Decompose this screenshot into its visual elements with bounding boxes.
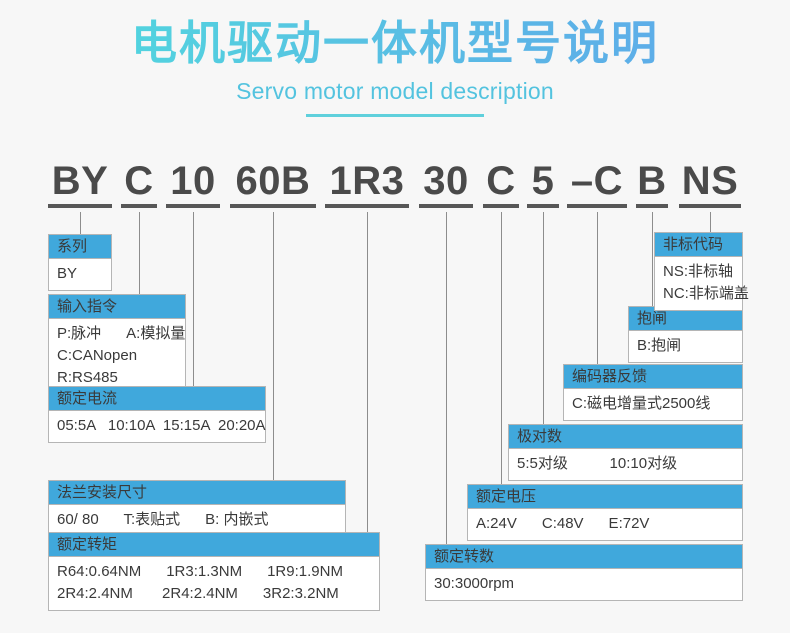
legend-box-title: 额定转数 xyxy=(426,545,742,569)
legend-box-nonstandard-code: 非标代码 NS:非标轴 NC:非标端盖 xyxy=(654,232,743,311)
legend-line: NC:非标端盖 xyxy=(663,283,734,305)
legend-box-body: R64:0.64NM 1R3:1.3NM 1R9:1.9NM 2R4:2.4NM… xyxy=(49,557,379,610)
connector-line-flange-size xyxy=(273,212,274,482)
legend-box-body: P:脉冲 A:模拟量 C:CANopen R:RS485 xyxy=(49,319,185,394)
title-underline-rule xyxy=(306,114,484,117)
code-segment-text: NS xyxy=(682,159,739,203)
connector-line-rated-torque xyxy=(367,212,368,534)
legend-box-title: 编码器反馈 xyxy=(564,365,742,389)
code-segment-text: 1R3 xyxy=(330,159,405,203)
legend-box-body: 30:3000rpm xyxy=(426,569,742,600)
legend-box-title: 额定电流 xyxy=(49,387,265,411)
legend-box-flange-size: 法兰安装尺寸 60/ 80 T:表贴式 B: 内嵌式 xyxy=(48,480,346,537)
title-block: 电机驱动一体机型号说明 Servo motor model descriptio… xyxy=(0,14,790,117)
legend-box-title: 额定转矩 xyxy=(49,533,379,557)
legend-box-body: B:抱闸 xyxy=(629,331,742,362)
model-description-diagram: 电机驱动一体机型号说明 Servo motor model descriptio… xyxy=(0,0,790,633)
legend-box-rated-current: 额定电流 05:5A 10:10A 15:15A 20:20A xyxy=(48,386,266,443)
code-segment-underline xyxy=(636,204,668,208)
code-segment-text: C xyxy=(486,159,515,203)
code-segment-encoder-feedback: –C xyxy=(567,158,627,208)
code-segment-underline xyxy=(166,204,220,208)
connector-line-encoder-feedback xyxy=(597,212,598,366)
legend-line: 5:5对级 10:10对级 xyxy=(517,453,734,475)
code-segment-underline xyxy=(679,204,741,208)
code-segment-flange-size: 60B xyxy=(230,158,316,208)
legend-box-brake: 抱闸 B:抱闸 xyxy=(628,306,743,363)
code-segment-underline xyxy=(483,204,519,208)
legend-box-series: 系列 BY xyxy=(48,234,112,291)
code-segment-rated-torque: 1R3 xyxy=(325,158,409,208)
code-segment-text: BY xyxy=(52,159,109,203)
code-segment-underline xyxy=(527,204,559,208)
legend-line: 30:3000rpm xyxy=(434,573,734,595)
code-segment-text: B xyxy=(637,159,666,203)
code-segment-text: C xyxy=(124,159,153,203)
connector-line-pole-pairs xyxy=(543,212,544,426)
connector-line-rated-speed xyxy=(446,212,447,546)
code-segment-underline xyxy=(325,204,409,208)
code-segment-pole-pairs: 5 xyxy=(527,158,559,208)
legend-box-body: C:磁电增量式2500线 xyxy=(564,389,742,420)
legend-box-body: 5:5对级 10:10对级 xyxy=(509,449,742,480)
legend-line: 2R4:2.4NM 2R4:2.4NM 3R2:3.2NM xyxy=(57,583,371,605)
connector-line-series xyxy=(80,212,81,236)
code-segment-underline xyxy=(121,204,157,208)
legend-box-body: BY xyxy=(49,259,111,290)
connector-line-rated-current xyxy=(193,212,194,388)
code-segment-underline xyxy=(230,204,316,208)
legend-box-rated-torque: 额定转矩 R64:0.64NM 1R3:1.3NM 1R9:1.9NM 2R4:… xyxy=(48,532,380,611)
code-segment-underline xyxy=(567,204,627,208)
legend-box-title: 额定电压 xyxy=(468,485,742,509)
legend-box-rated-voltage: 额定电压 A:24V C:48V E:72V xyxy=(467,484,743,541)
page-subtitle: Servo motor model description xyxy=(0,78,790,105)
code-segment-underline xyxy=(48,204,112,208)
legend-box-title: 系列 xyxy=(49,235,111,259)
connector-line-brake xyxy=(652,212,653,308)
legend-line: P:脉冲 A:模拟量 xyxy=(57,323,177,345)
legend-line: 60/ 80 T:表贴式 B: 内嵌式 xyxy=(57,509,337,531)
legend-line: BY xyxy=(57,263,103,285)
legend-box-body: A:24V C:48V E:72V xyxy=(468,509,742,540)
legend-line: B:抱闸 xyxy=(637,335,734,357)
code-segment-input-command: C xyxy=(121,158,157,208)
legend-box-rated-speed: 额定转数 30:3000rpm xyxy=(425,544,743,601)
legend-box-body: 05:5A 10:10A 15:15A 20:20A xyxy=(49,411,265,442)
legend-line: C:磁电增量式2500线 xyxy=(572,393,734,415)
code-segment-text: 30 xyxy=(423,159,469,203)
legend-line: A:24V C:48V E:72V xyxy=(476,513,734,535)
code-segment-text: –C xyxy=(571,159,623,203)
legend-box-title: 法兰安装尺寸 xyxy=(49,481,345,505)
code-segment-text: 5 xyxy=(532,159,555,203)
page-title: 电机驱动一体机型号说明 xyxy=(0,14,790,72)
code-segment-series: BY xyxy=(48,158,112,208)
legend-box-body: NS:非标轴 NC:非标端盖 xyxy=(655,257,742,310)
legend-box-pole-pairs: 极对数 5:5对级 10:10对级 xyxy=(508,424,743,481)
code-segment-rated-current: 10 xyxy=(166,158,220,208)
legend-box-encoder-feedback: 编码器反馈 C:磁电增量式2500线 xyxy=(563,364,743,421)
code-segment-nonstandard-code: NS xyxy=(679,158,741,208)
code-segment-underline xyxy=(419,204,473,208)
model-code-row: BY C 10 60B 1R3 30 C 5 xyxy=(0,158,790,214)
legend-box-title: 非标代码 xyxy=(655,233,742,257)
legend-box-title: 极对数 xyxy=(509,425,742,449)
code-segment-text: 60B xyxy=(236,159,311,203)
connector-line-nonstandard-code xyxy=(710,212,711,234)
legend-box-title: 输入指令 xyxy=(49,295,185,319)
legend-line: C:CANopen xyxy=(57,345,177,367)
legend-line: 05:5A 10:10A 15:15A 20:20A xyxy=(57,415,257,437)
legend-box-input-command: 输入指令 P:脉冲 A:模拟量 C:CANopen R:RS485 xyxy=(48,294,186,395)
legend-line: NS:非标轴 xyxy=(663,261,734,283)
connector-line-input-command xyxy=(139,212,140,296)
legend-line: R64:0.64NM 1R3:1.3NM 1R9:1.9NM xyxy=(57,561,371,583)
code-segment-rated-speed: 30 xyxy=(419,158,473,208)
code-segment-rated-voltage: C xyxy=(483,158,519,208)
connector-line-rated-voltage xyxy=(501,212,502,486)
code-segment-text: 10 xyxy=(170,159,216,203)
code-segment-brake: B xyxy=(636,158,668,208)
